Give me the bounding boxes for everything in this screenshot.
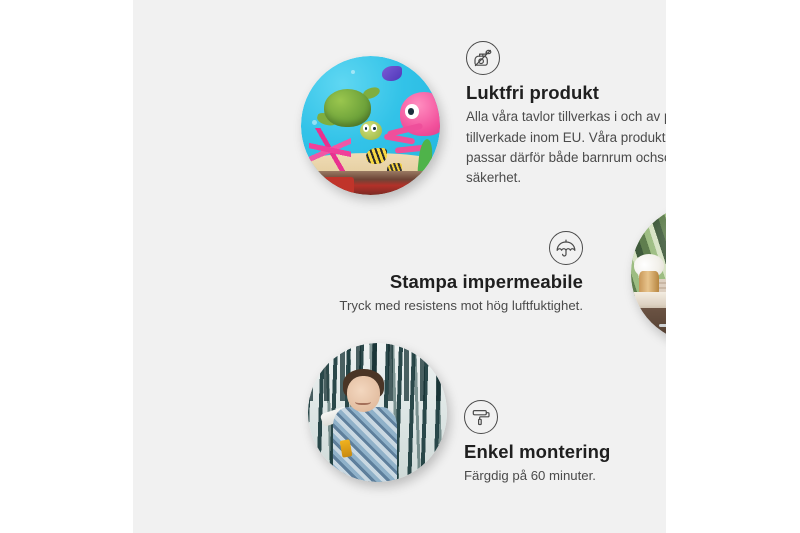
woman-smile	[355, 397, 370, 405]
feature-2-icon-wrap	[323, 231, 583, 265]
no-scent-perfume-bottle-icon	[466, 41, 500, 75]
feature-3-description: Färgdig på 60 minuter.	[464, 466, 666, 486]
room-foreground-strip	[301, 171, 440, 195]
feature-1-title: Luktfri produkt	[466, 82, 666, 103]
feature-2-title: Stampa impermeabile	[323, 271, 583, 292]
bubble-icon	[351, 70, 355, 74]
umbrella-icon	[549, 231, 583, 265]
paint-roller-icon	[464, 400, 498, 434]
feature-image-painter	[308, 343, 447, 482]
countertop	[631, 292, 666, 310]
drawer-handle	[659, 324, 666, 327]
coral	[309, 128, 351, 172]
feature-block-1: Luktfri produkt Alla våra tavlor tillver…	[466, 41, 666, 189]
feature-block-2: Stampa impermeabile Tryck med resistens …	[323, 231, 583, 316]
feature-3-icon-wrap	[464, 400, 666, 434]
feature-block-3: Enkel montering Färgdig på 60 minuter.	[464, 400, 666, 486]
feature-3-title: Enkel montering	[464, 441, 666, 462]
content-panel: Luktfri produkt Alla våra tavlor tillver…	[133, 0, 666, 533]
feature-image-bathroom	[631, 204, 666, 343]
feature-image-underwater	[301, 56, 440, 195]
feature-1-description: Alla våra tavlor tillverkas i och av pro…	[466, 107, 666, 189]
feature-1-icon-wrap	[466, 41, 666, 75]
product-feature-page: Luktfri produkt Alla våra tavlor tillver…	[0, 0, 800, 533]
feature-2-description: Tryck med resistens mot hög luftfuktighe…	[323, 296, 583, 316]
